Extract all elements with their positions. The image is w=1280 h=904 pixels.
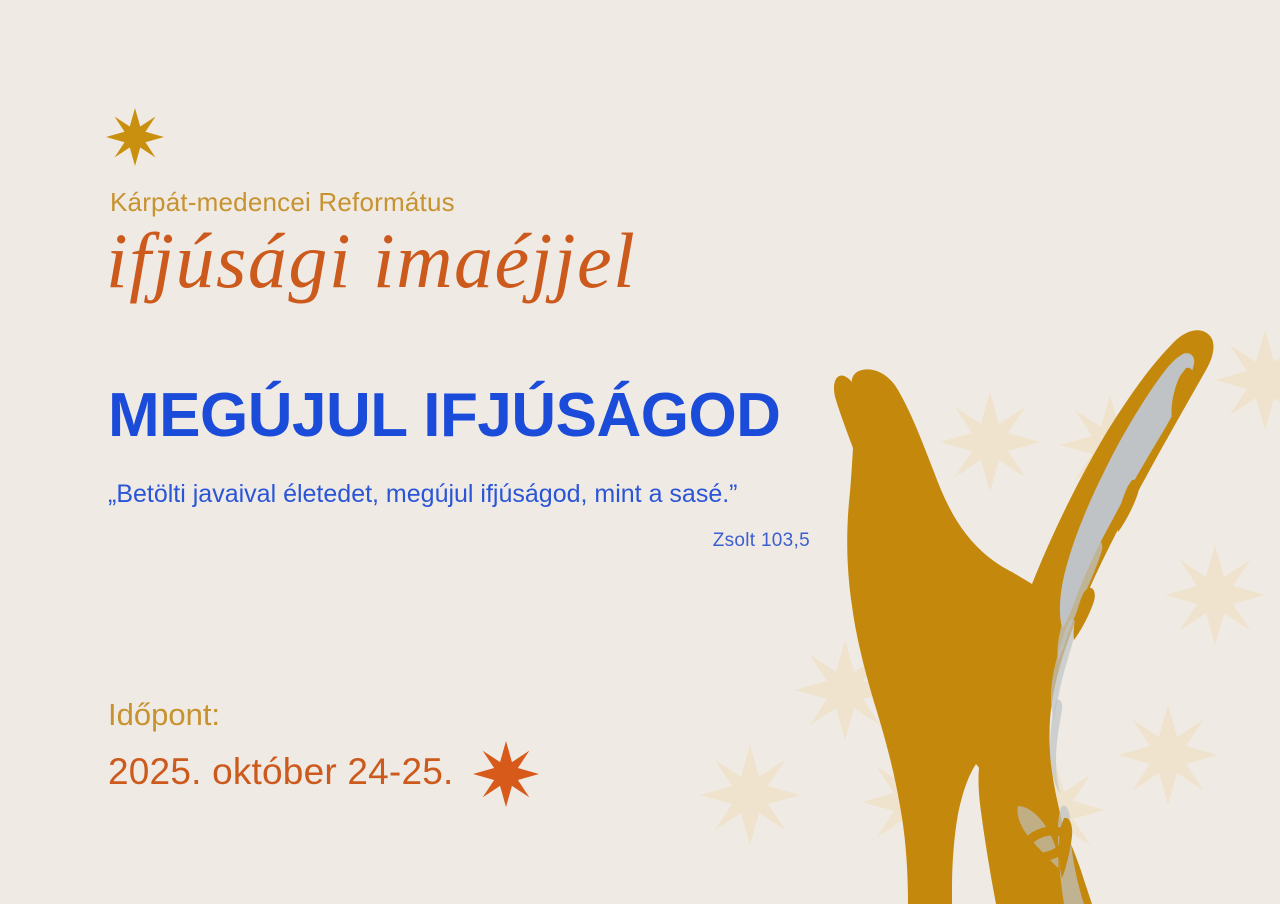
verse-text: „Betölti javaival életedet, megújul ifjú… xyxy=(108,480,738,509)
page-title: MEGÚJUL IFJÚSÁGOD xyxy=(108,385,780,447)
eagle-wing-feathers xyxy=(1017,353,1194,904)
date-label: Időpont: xyxy=(108,697,220,733)
date-value: 2025. október 24-25. xyxy=(108,751,453,793)
brand-star-icon xyxy=(106,108,164,166)
eagle-tail-shape xyxy=(979,760,1093,904)
date-row: 2025. október 24-25. xyxy=(108,737,539,807)
wordmark-title: ifjúsági imaéjjel xyxy=(106,222,636,300)
poster-canvas: Kárpát-medencei Református ifjúsági imaé… xyxy=(0,0,1280,904)
poster-content: Kárpát-medencei Református ifjúsági imaé… xyxy=(106,0,866,904)
eagle-body-shape xyxy=(847,330,1213,904)
eyebrow-text: Kárpát-medencei Református xyxy=(110,187,455,218)
eagle-feather-accents xyxy=(1022,368,1193,878)
date-star-icon xyxy=(473,741,539,807)
verse-reference: Zsolt 103,5 xyxy=(108,530,810,552)
